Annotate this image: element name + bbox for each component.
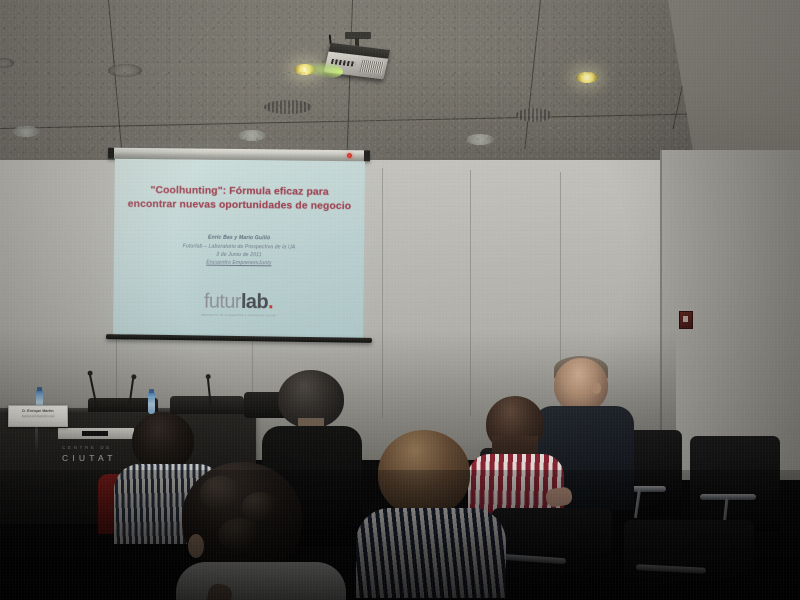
auditorium-seat	[690, 436, 780, 532]
ceiling-seam	[0, 111, 800, 129]
ear	[188, 534, 204, 558]
ceiling-downlight-unlit	[0, 58, 14, 68]
ceiling-downlight-unlit	[108, 64, 142, 77]
projection-screen: "Coolhunting": Fórmula eficaz para encon…	[113, 159, 365, 340]
torso-navy-striped-top	[356, 508, 506, 598]
ceiling-vent	[516, 108, 552, 122]
ceiling-seam	[108, 0, 122, 149]
ceiling-downlight-unlit	[238, 130, 266, 141]
nameplate-name: D. Enrique Martín	[9, 409, 67, 413]
photo-scene: "Coolhunting": Fórmula eficaz para encon…	[0, 0, 800, 600]
hair-highlight	[218, 518, 262, 552]
head	[132, 412, 194, 470]
water-bottle	[148, 392, 155, 414]
head	[378, 430, 470, 516]
hair-highlight	[242, 492, 278, 522]
podium-brand-line-1: CENTRE DE	[62, 445, 112, 450]
hair-highlight	[200, 476, 240, 510]
ceiling-downlight-lit	[576, 72, 598, 83]
ceiling-downlight-unlit	[12, 126, 40, 137]
torso-white-top	[176, 562, 346, 600]
ceiling-downlight-unlit	[466, 134, 494, 145]
podium-equipment	[170, 396, 244, 414]
ceiling-vent	[264, 100, 312, 114]
screen-housing-end-cap	[108, 148, 114, 159]
nameplate-stand	[35, 424, 38, 454]
fire-alarm-sign	[679, 311, 693, 329]
ceiling-seam	[524, 0, 541, 149]
screen-housing-end-cap	[364, 150, 370, 161]
ceiling-seam	[347, 0, 353, 152]
speaker-nameplate: D. Enrique Martín Agencia de Desarrollo …	[8, 405, 68, 427]
auditorium-seat	[624, 520, 754, 600]
bottle-cap	[37, 387, 42, 391]
bottle-cap	[149, 389, 154, 393]
screen-glare	[113, 159, 306, 340]
nameplate-role: Agencia de Desarrollo Local	[9, 415, 67, 418]
ear	[592, 382, 601, 394]
projector-vent-grille	[359, 60, 384, 75]
podium-control-panel	[58, 428, 134, 439]
screen-status-led-icon	[347, 153, 352, 158]
alarm-glyph-icon	[683, 316, 688, 322]
